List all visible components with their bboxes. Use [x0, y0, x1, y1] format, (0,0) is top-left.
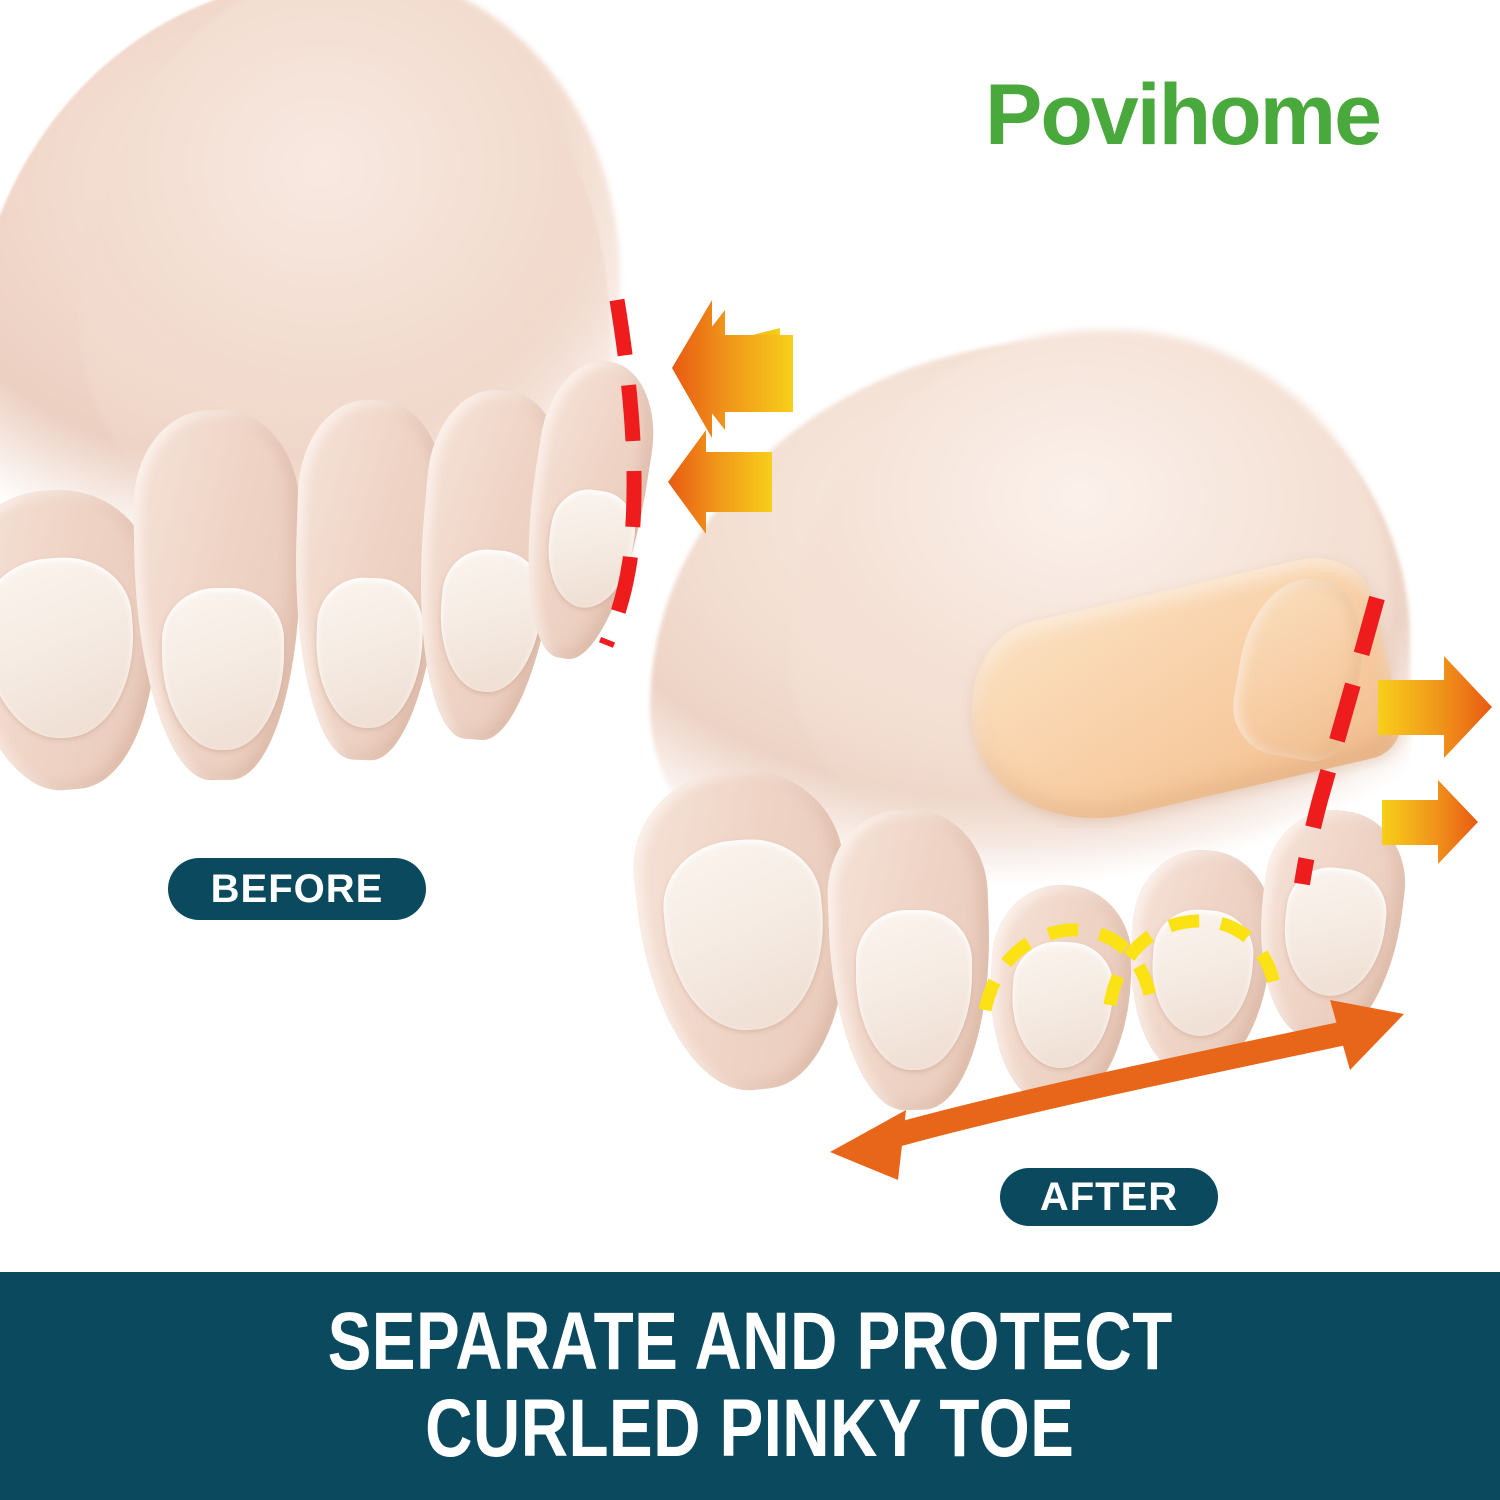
before-foot-photo — [0, 0, 660, 840]
after-foot-photo — [640, 340, 1500, 1140]
headline-line-2: CURLED PINKY TOE — [425, 1386, 1074, 1473]
badge-after: AFTER — [1000, 1168, 1218, 1226]
badge-before: BEFORE — [168, 858, 426, 920]
headline-line-1: SEPARATE AND PROTECT — [327, 1299, 1172, 1386]
headline-banner: SEPARATE AND PROTECT CURLED PINKY TOE — [0, 1272, 1500, 1500]
photo-comparison-area: Povihome BEFORE AFTER — [0, 0, 1500, 1272]
product-image-canvas: Povihome BEFORE AFTER SEPARATE AND PROTE… — [0, 0, 1500, 1500]
brand-logo: Povihome — [985, 72, 1380, 158]
